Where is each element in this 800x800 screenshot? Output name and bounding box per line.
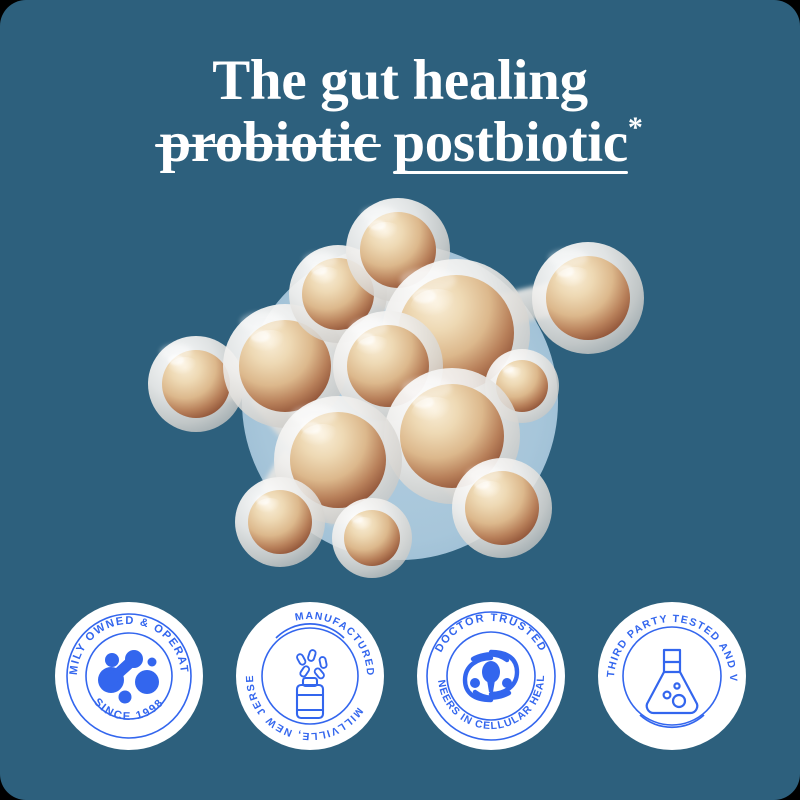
molecule-svg [0,188,800,588]
badge-third-party-tested[interactable]: ALWAYS THIRD PARTY TESTED AND VERIFIED [598,602,746,750]
trust-badge-row: FAMILY OWNED & OPERATED SINCE 1998 [0,602,800,762]
badge-family-owned[interactable]: FAMILY OWNED & OPERATED SINCE 1998 [55,602,203,750]
molecule-atoms [148,198,644,578]
page-title: The gut healing probiotic postbiotic* [0,52,800,172]
headline-line-1: The gut healing [0,52,800,110]
badge-doctor-trusted[interactable]: DOCTOR TRUSTED PIONEERS IN CELLULAR HEAL… [417,602,565,750]
atom-bottom-mid [332,498,412,578]
atom-bottom-left [235,477,325,567]
atom-right-upper [532,242,644,354]
molecule-illustration [0,188,800,588]
promo-card: The gut healing probiotic postbiotic* [0,0,800,800]
badge-manufactured-nj[interactable]: MANUFACTURED IN MILLVILLE, NEW JERSEY [236,602,384,750]
struck-word-probiotic: probiotic [157,114,379,172]
asterisk-footnote-marker: * [628,111,643,144]
badge-disc [237,603,383,749]
underlined-word-postbiotic: postbiotic [393,114,628,172]
atom-bottom-right [452,458,552,558]
headline-line-2: probiotic postbiotic* [0,114,800,172]
